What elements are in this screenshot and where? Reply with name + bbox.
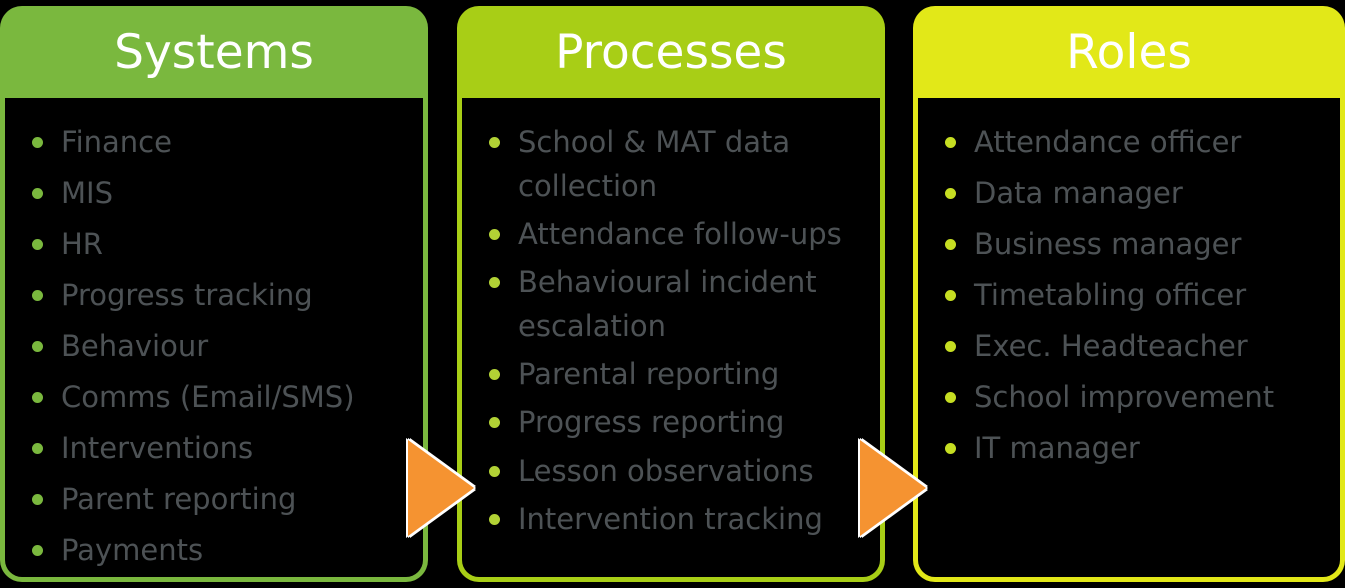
bullet-dot-icon bbox=[945, 137, 956, 148]
bullet-dot-icon bbox=[32, 137, 43, 148]
list-item-label: MIS bbox=[61, 171, 413, 216]
list-item: Lesson observations bbox=[484, 449, 870, 493]
list-item-label: Business manager bbox=[974, 222, 1330, 267]
card-roles-title: Roles bbox=[1066, 29, 1192, 76]
bullet-dot-icon bbox=[489, 466, 500, 477]
list-item-label: Data manager bbox=[974, 171, 1330, 216]
list-item-label: Behaviour bbox=[61, 324, 413, 369]
list-item: Attendance follow-ups bbox=[484, 212, 870, 256]
card-processes-list: School & MAT data collection Attendance … bbox=[484, 120, 870, 541]
list-item: Behavioural incident escalation bbox=[484, 260, 870, 348]
bullet-dot-icon bbox=[32, 392, 43, 403]
card-processes-body: School & MAT data collection Attendance … bbox=[457, 98, 885, 582]
list-item: Exec. Headteacher bbox=[940, 324, 1330, 369]
bullet-dot-icon bbox=[32, 341, 43, 352]
list-item: Interventions bbox=[27, 426, 413, 471]
list-item: Finance bbox=[27, 120, 413, 165]
list-item-label: HR bbox=[61, 222, 413, 267]
card-processes-title: Processes bbox=[555, 29, 787, 76]
list-item: MIS bbox=[27, 171, 413, 216]
arrow-right-icon-systems-to-processes bbox=[408, 440, 474, 536]
list-item: Progress tracking bbox=[27, 273, 413, 318]
bullet-dot-icon bbox=[32, 188, 43, 199]
list-item: Comms (Email/SMS) bbox=[27, 375, 413, 420]
list-item: Intervention tracking bbox=[484, 497, 870, 541]
list-item-label: School improvement bbox=[974, 375, 1330, 420]
bullet-dot-icon bbox=[945, 392, 956, 403]
card-systems-title: Systems bbox=[114, 29, 314, 76]
list-item: Timetabling officer bbox=[940, 273, 1330, 318]
bullet-dot-icon bbox=[32, 494, 43, 505]
card-roles-list: Attendance officer Data manager Business… bbox=[940, 120, 1330, 471]
list-item: Behaviour bbox=[27, 324, 413, 369]
list-item: Progress reporting bbox=[484, 400, 870, 444]
list-item: HR bbox=[27, 222, 413, 267]
bullet-dot-icon bbox=[32, 545, 43, 556]
list-item-label: Interventions bbox=[61, 426, 413, 471]
bullet-dot-icon bbox=[489, 229, 500, 240]
list-item: Attendance officer bbox=[940, 120, 1330, 165]
list-item: Parent reporting bbox=[27, 477, 413, 522]
bullet-dot-icon bbox=[945, 239, 956, 250]
list-item-label: Lesson observations bbox=[518, 449, 870, 493]
bullet-dot-icon bbox=[945, 341, 956, 352]
list-item-label: Exec. Headteacher bbox=[974, 324, 1330, 369]
list-item-label: Progress reporting bbox=[518, 400, 870, 444]
list-item-label: Payments bbox=[61, 528, 413, 573]
list-item-label: Attendance follow-ups bbox=[518, 212, 870, 256]
card-roles: Roles Attendance officer Data manager Bu… bbox=[913, 6, 1345, 582]
list-item: Business manager bbox=[940, 222, 1330, 267]
list-item-label: Intervention tracking bbox=[518, 497, 870, 541]
list-item: School improvement bbox=[940, 375, 1330, 420]
bullet-dot-icon bbox=[32, 290, 43, 301]
list-item: Payments bbox=[27, 528, 413, 573]
bullet-dot-icon bbox=[489, 369, 500, 380]
card-processes-header: Processes bbox=[457, 6, 885, 98]
card-systems-body: Finance MIS HR Progress tracking Behavio… bbox=[0, 98, 428, 582]
bullet-dot-icon bbox=[489, 277, 500, 288]
card-systems-header: Systems bbox=[0, 6, 428, 98]
list-item-label: Attendance officer bbox=[974, 120, 1330, 165]
arrow-right-icon-processes-to-roles bbox=[860, 440, 926, 536]
bullet-dot-icon bbox=[945, 188, 956, 199]
list-item-label: Progress tracking bbox=[61, 273, 413, 318]
list-item: IT manager bbox=[940, 426, 1330, 471]
list-item-label: Behavioural incident escalation bbox=[518, 260, 870, 348]
list-item-label: Finance bbox=[61, 120, 413, 165]
list-item-label: Parental reporting bbox=[518, 352, 870, 396]
list-item-label: IT manager bbox=[974, 426, 1330, 471]
card-roles-header: Roles bbox=[913, 6, 1345, 98]
bullet-dot-icon bbox=[489, 514, 500, 525]
list-item-label: School & MAT data collection bbox=[518, 120, 870, 208]
list-item-label: Parent reporting bbox=[61, 477, 413, 522]
list-item: Parental reporting bbox=[484, 352, 870, 396]
list-item: School & MAT data collection bbox=[484, 120, 870, 208]
list-item-label: Timetabling officer bbox=[974, 273, 1330, 318]
bullet-dot-icon bbox=[32, 443, 43, 454]
card-processes: Processes School & MAT data collection A… bbox=[457, 6, 885, 582]
card-roles-body: Attendance officer Data manager Business… bbox=[913, 98, 1345, 582]
bullet-dot-icon bbox=[489, 137, 500, 148]
diagram-canvas: Systems Finance MIS HR Progress trac bbox=[0, 0, 1345, 588]
bullet-dot-icon bbox=[945, 290, 956, 301]
list-item-label: Comms (Email/SMS) bbox=[61, 375, 413, 420]
card-systems: Systems Finance MIS HR Progress trac bbox=[0, 6, 428, 582]
bullet-dot-icon bbox=[945, 443, 956, 454]
card-systems-list: Finance MIS HR Progress tracking Behavio… bbox=[27, 120, 413, 572]
bullet-dot-icon bbox=[32, 239, 43, 250]
bullet-dot-icon bbox=[489, 417, 500, 428]
list-item: Data manager bbox=[940, 171, 1330, 216]
